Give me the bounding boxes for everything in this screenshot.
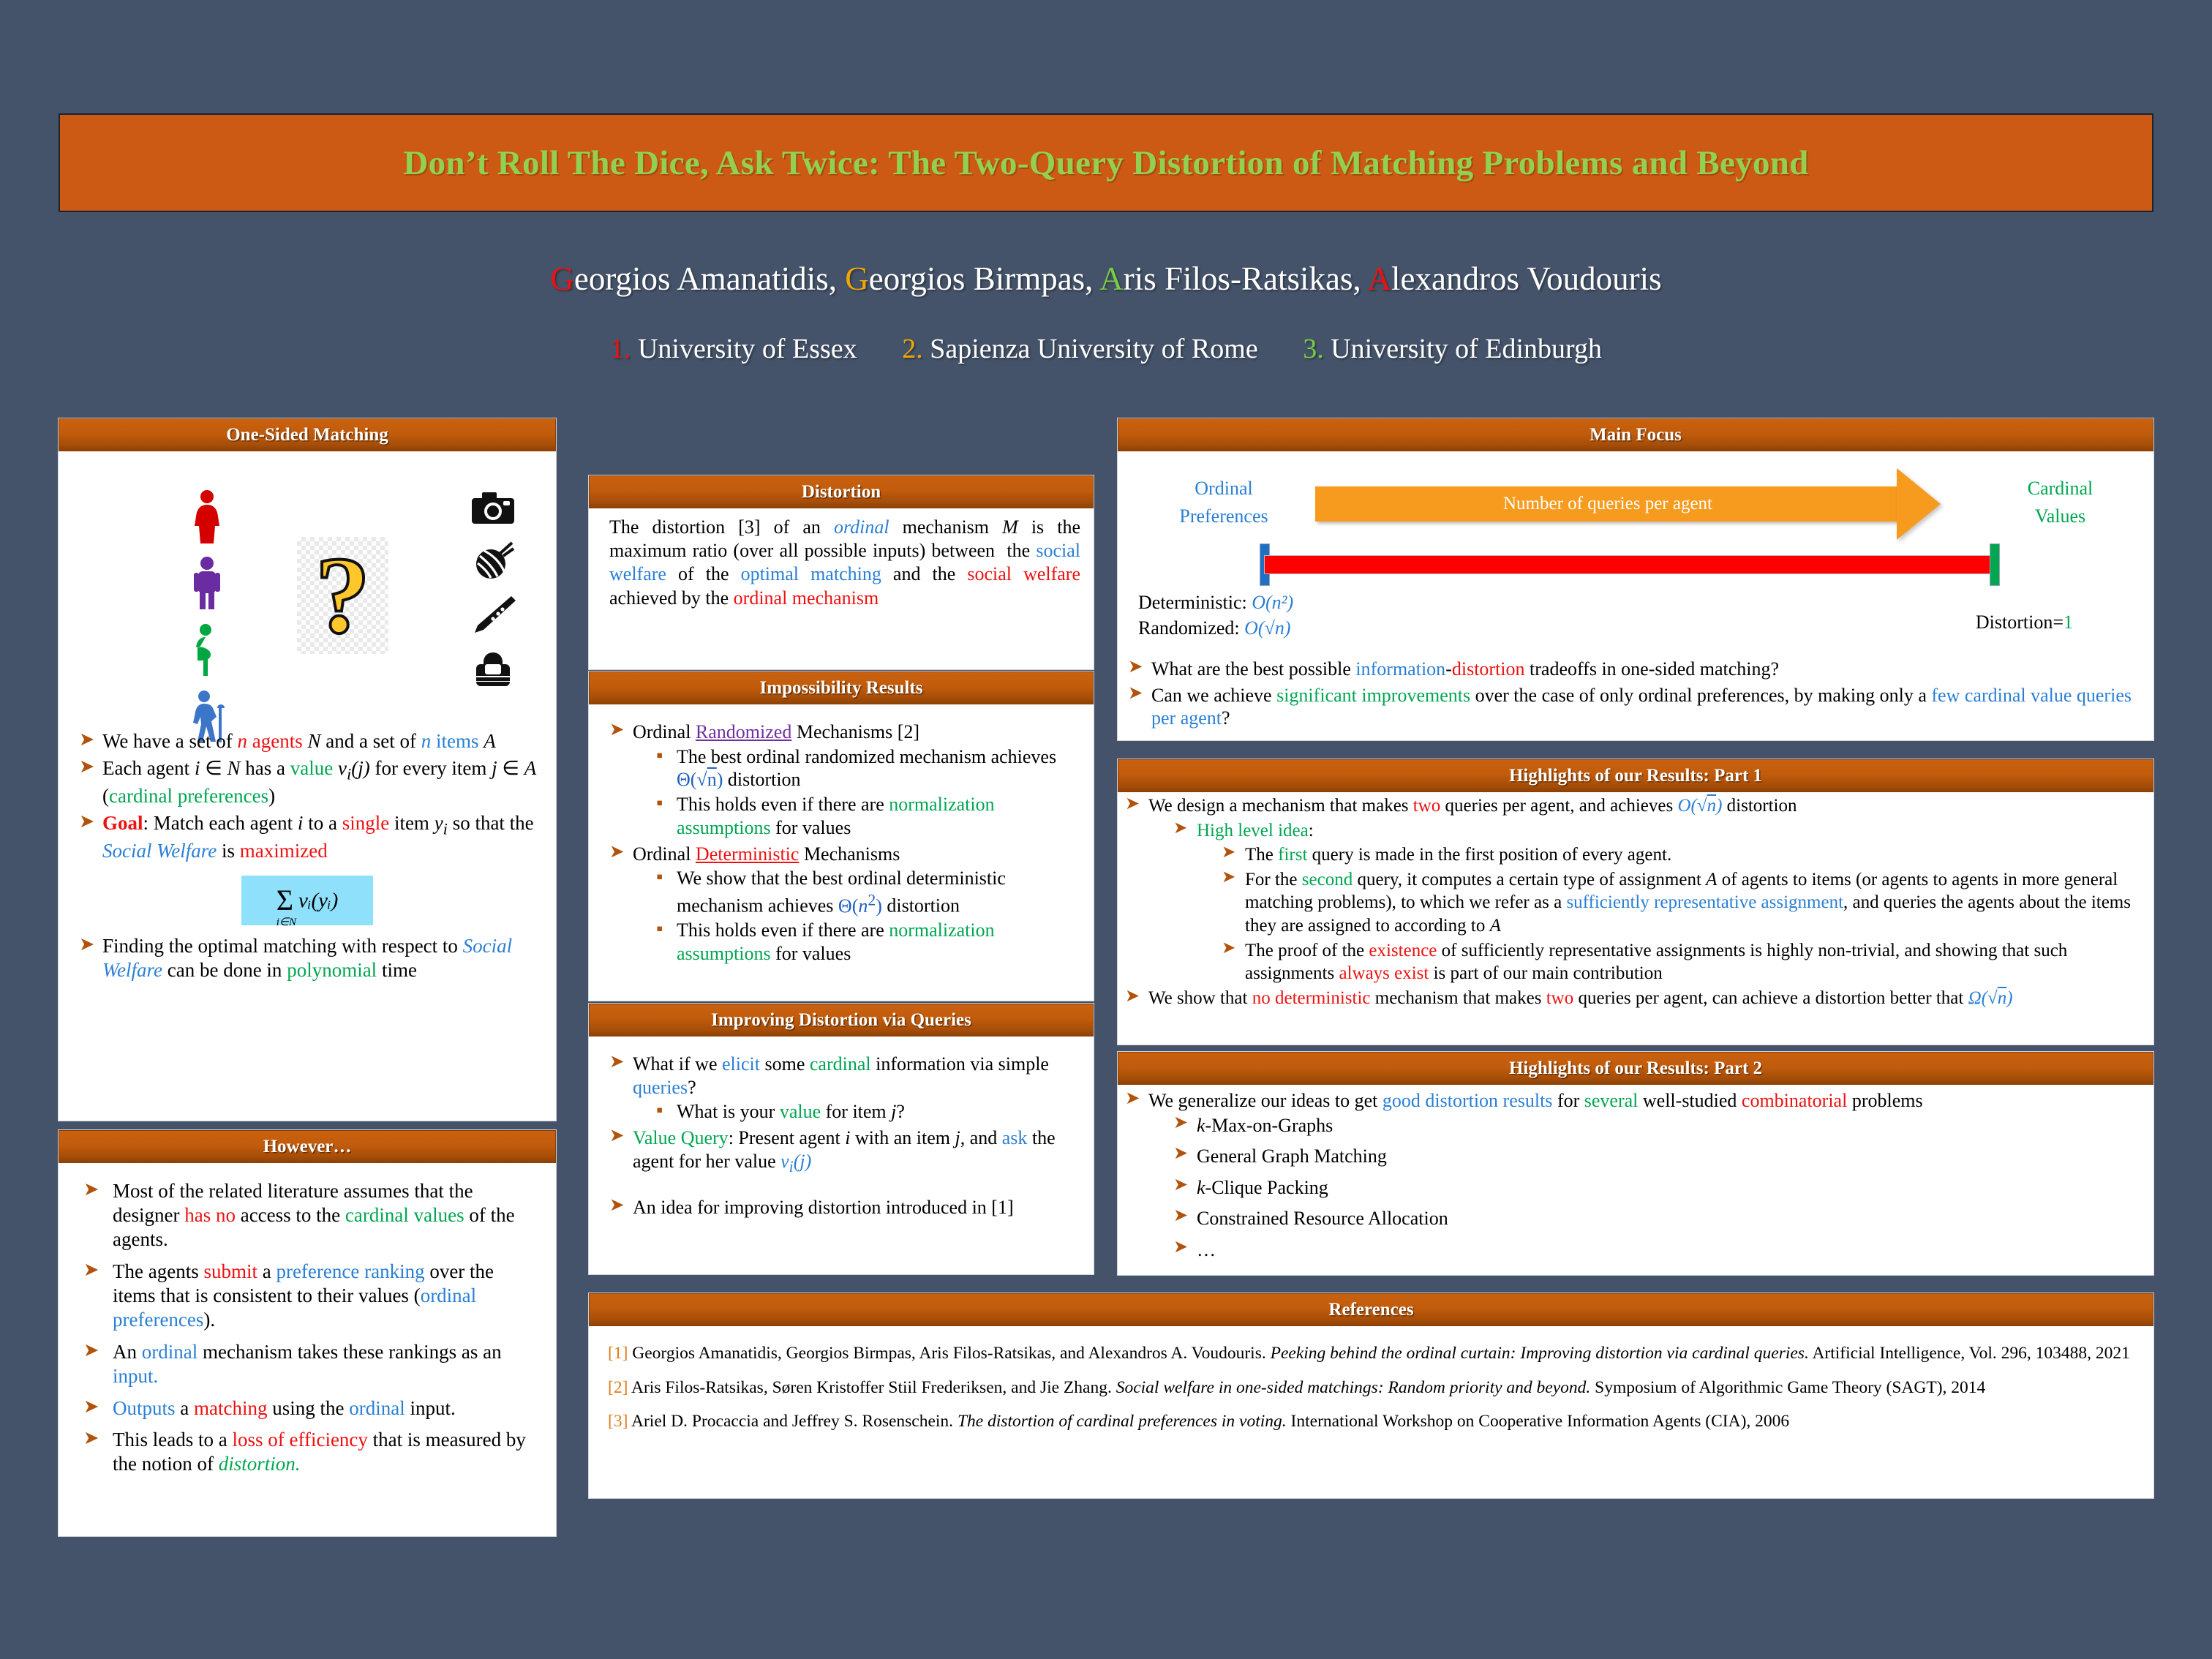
list-item: The proof of the existence of sufficient…	[1220, 939, 2146, 985]
section-header-distortion: Distortion	[589, 475, 1094, 508]
query-spectrum-diagram: Ordinal Preferences Number of queries pe…	[1118, 462, 2153, 601]
distortion-definition: The distortion [3] of an ordinal mechani…	[589, 508, 1094, 610]
improving-queries-content: What if we elicit some cardinal informat…	[589, 1037, 1094, 1235]
backpack-icon	[469, 650, 517, 693]
arrow-head-icon	[1897, 468, 1941, 540]
section-header-highlights-part-2: Highlights of our Results: Part 2	[1118, 1052, 2153, 1085]
list-item: This holds even if there are normalizati…	[655, 919, 1075, 965]
affiliation-list: 1. University of Essex 2. Sapienza Unive…	[0, 333, 2212, 365]
section-references: References [1] Georgios Amanatidis, Geor…	[589, 1293, 2153, 1498]
list-item: Ordinal Randomized Mechanisms [2] The be…	[608, 721, 1075, 840]
author-4: Alexandros Voudouris	[1368, 260, 1662, 297]
author-2: Georgios Birmpas,	[845, 260, 1093, 297]
ordinal-bounds: Deterministic: O(n²) Randomized: O(√n)	[1138, 590, 1293, 641]
queries-arrow: Number of queries per agent	[1315, 478, 1992, 530]
matching-illustration: ?	[78, 482, 537, 723]
author-1: Georgios Amanatidis,	[550, 260, 837, 297]
list-item: We generalize our ideas to get good dist…	[1124, 1089, 2146, 1262]
affiliation-2: 2. Sapienza University of Rome	[902, 334, 1258, 364]
list-item: Outputs a matching using the ordinal inp…	[78, 1396, 537, 1421]
section-distortion: Distortion The distortion [3] of an ordi…	[589, 475, 1094, 669]
woman-red-icon	[187, 489, 231, 547]
scale-red-bar	[1264, 555, 1995, 574]
highlights-part-2-content: We generalize our ideas to get good dist…	[1118, 1085, 2153, 1262]
section-header-highlights-part-1: Highlights of our Results: Part 1	[1118, 759, 2153, 792]
list-item: Constrained Resource Allocation	[1172, 1207, 2146, 1231]
list-item: General Graph Matching	[1172, 1145, 2146, 1169]
author-list: Georgios Amanatidis, Georgios Birmpas, A…	[0, 260, 2212, 298]
section-header-main-focus: Main Focus	[1118, 418, 2153, 451]
list-item: The agents submit a preference ranking o…	[78, 1260, 537, 1332]
section-header-however: However…	[59, 1130, 556, 1163]
list-item: High level idea: The first query is made…	[1172, 819, 2146, 985]
list-item: Finding the optimal matching with respec…	[78, 934, 537, 982]
man-purple-icon	[187, 556, 231, 614]
list-item: We show that the best ordinal determinis…	[655, 867, 1075, 917]
section-header-one-sided-matching: One-Sided Matching	[59, 418, 556, 451]
reference-item: [1] Georgios Amanatidis, Georgios Birmpa…	[608, 1342, 2134, 1365]
list-item: We design a mechanism that makes two que…	[1124, 795, 2146, 985]
list-item: For the second query, it computes a cert…	[1220, 868, 2146, 937]
scale-cap-right	[1990, 543, 2000, 586]
list-item: k-Max-on-Graphs	[1172, 1114, 2146, 1138]
references-list: [1] Georgios Amanatidis, Georgios Birmpa…	[589, 1326, 2153, 1452]
list-item: This holds even if there are normalizati…	[655, 793, 1075, 839]
list-item: Ordinal Deterministic Mechanisms We show…	[608, 843, 1075, 966]
impossibility-content: Ordinal Randomized Mechanisms [2] The be…	[589, 704, 1094, 982]
list-item: An idea for improving distortion introdu…	[608, 1196, 1075, 1219]
list-item: Can we achieve significant improvements …	[1126, 684, 2146, 730]
list-item: k-Clique Packing	[1172, 1176, 2146, 1200]
affiliation-3: 3. University of Edinburgh	[1303, 334, 1602, 364]
list-item: Goal: Match each agent i to a single ite…	[78, 811, 537, 863]
main-focus-questions: What are the best possible information-d…	[1118, 653, 2153, 730]
camera-icon	[469, 489, 517, 530]
affiliation-1: 1. University of Essex	[610, 334, 857, 364]
list-item: We have a set of n agents N and a set of…	[78, 729, 537, 753]
section-one-sided-matching: One-Sided Matching ?	[59, 418, 556, 1121]
reference-item: [3] Ariel D. Procaccia and Jeffrey S. Ro…	[608, 1410, 2134, 1433]
list-item: We show that no deterministic mechanism …	[1124, 987, 2146, 1010]
social-welfare-formula: Σi∈N vᵢ(yᵢ)	[241, 876, 373, 925]
agents-column	[187, 489, 231, 756]
items-column	[469, 489, 517, 703]
list-item: Each agent i ∈ N has a value vi(j) for e…	[78, 756, 537, 808]
list-item: This leads to a loss of efficiency that …	[78, 1428, 537, 1476]
distortion-scale-bar	[1249, 548, 2010, 582]
page-title: Don’t Roll The Dice, Ask Twice: The Two-…	[403, 143, 1808, 183]
however-bullets: Most of the related literature assumes t…	[59, 1163, 556, 1497]
list-item: An ordinal mechanism takes these ranking…	[78, 1340, 537, 1388]
section-highlights-part-1: Highlights of our Results: Part 1 We des…	[1118, 759, 2153, 1045]
section-impossibility-results: Impossibility Results Ordinal Randomized…	[589, 671, 1094, 1001]
list-item: Most of the related literature assumes t…	[78, 1179, 537, 1252]
list-item: Value Query: Present agent i with an ite…	[608, 1126, 1075, 1176]
list-item: The first query is made in the first pos…	[1220, 843, 2146, 866]
list-item: What are the best possible information-d…	[1126, 658, 2146, 681]
clarinet-icon	[469, 595, 517, 639]
cardinal-values-label: Cardinal Values	[1989, 475, 2132, 530]
list-item: The best ordinal randomized mechanism ac…	[655, 745, 1075, 791]
section-however: However… Most of the related literature …	[59, 1130, 556, 1536]
author-3: Aris Filos-Ratsikas,	[1099, 260, 1361, 297]
section-highlights-part-2: Highlights of our Results: Part 2 We gen…	[1118, 1052, 2153, 1275]
list-item: What if we elicit some cardinal informat…	[608, 1053, 1075, 1124]
poster-title-banner: Don’t Roll The Dice, Ask Twice: The Two-…	[59, 113, 2153, 212]
section-header-references: References	[589, 1293, 2153, 1326]
reference-item: [2] Aris Filos-Ratsikas, Søren Kristoffe…	[608, 1377, 2134, 1399]
highlights-part-1-content: We design a mechanism that makes two que…	[1118, 792, 2153, 1010]
list-item: What is your value for item j?	[655, 1100, 1075, 1124]
section-improving-distortion-via-queries: Improving Distortion via Queries What if…	[589, 1004, 1094, 1274]
section-header-impossibility-results: Impossibility Results	[589, 671, 1094, 704]
one-sided-matching-bullets: We have a set of n agents N and a set of…	[78, 729, 537, 982]
section-main-focus: Main Focus Ordinal Preferences Number of…	[1118, 418, 2153, 740]
distortion-equals-one: Distortion=1	[1976, 612, 2073, 633]
yarn-ball-icon	[469, 540, 517, 584]
pregnant-woman-green-icon	[187, 622, 231, 680]
ordinal-preferences-label: Ordinal Preferences	[1154, 475, 1293, 530]
question-mark-icon: ?	[297, 537, 388, 654]
section-header-improving-queries: Improving Distortion via Queries	[589, 1004, 1094, 1037]
list-item: …	[1172, 1238, 2146, 1263]
